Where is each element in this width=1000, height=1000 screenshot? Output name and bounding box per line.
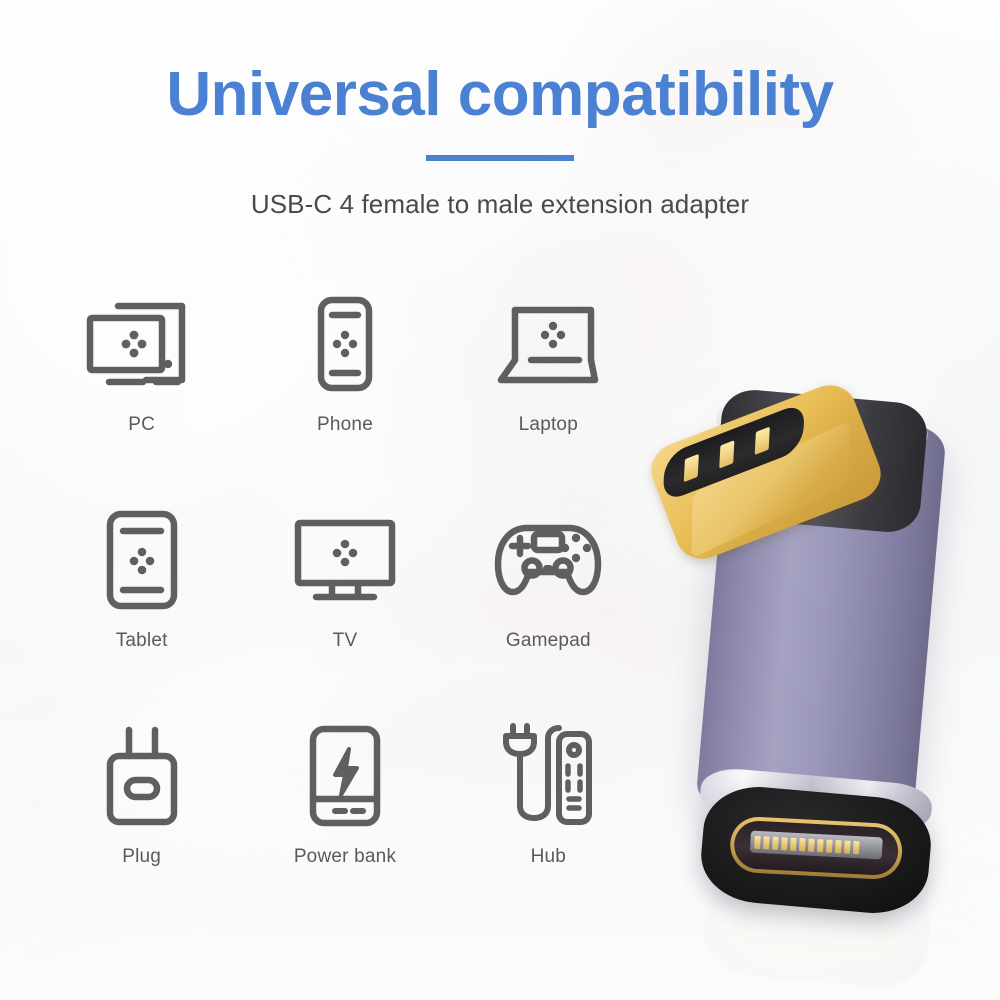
grid-item-gamepad: Gamepad bbox=[447, 504, 650, 720]
tablet-icon-box bbox=[98, 504, 186, 616]
female-contact-pin bbox=[763, 836, 770, 849]
gamepad-icon-box bbox=[486, 504, 610, 616]
male-contact-pin bbox=[719, 440, 734, 468]
female-contact-pin bbox=[808, 838, 815, 851]
female-port-cavity bbox=[733, 820, 899, 877]
female-contact-pin bbox=[781, 837, 788, 850]
grid-item-laptop: Laptop bbox=[447, 288, 650, 504]
plug-icon-box bbox=[99, 720, 185, 832]
pc-icon-box bbox=[78, 288, 206, 400]
male-contact-pin bbox=[684, 454, 699, 482]
product-photo bbox=[640, 380, 1000, 1000]
gamepad-controller-icon bbox=[486, 516, 610, 604]
grid-item-phone: Phone bbox=[243, 288, 446, 504]
smartphone-icon bbox=[307, 292, 383, 396]
female-contact-pin bbox=[772, 836, 779, 849]
title-divider-wrap bbox=[0, 155, 1000, 161]
power-bank-icon bbox=[301, 721, 389, 831]
power-strip-hub-icon bbox=[498, 720, 598, 832]
compatibility-grid: PC Phone bbox=[40, 288, 650, 936]
title-divider bbox=[426, 155, 574, 161]
page-title: Universal compatibility bbox=[0, 62, 1000, 127]
grid-item-label: Phone bbox=[317, 414, 373, 436]
tv-icon-box bbox=[286, 504, 404, 616]
female-contact-pin bbox=[826, 839, 833, 852]
grid-item-label: PC bbox=[128, 414, 155, 436]
product-infographic: Universal compatibility USB-C 4 female t… bbox=[0, 0, 1000, 1000]
wall-charger-plug-icon bbox=[99, 722, 185, 830]
female-contact-pin bbox=[799, 838, 806, 851]
male-contact-pin bbox=[755, 427, 770, 455]
grid-item-label: Tablet bbox=[116, 630, 168, 652]
female-contact-pin bbox=[754, 835, 761, 848]
usb-c-female-port bbox=[697, 782, 934, 917]
female-contact-pin bbox=[844, 840, 851, 853]
female-contact-pin bbox=[853, 840, 860, 853]
television-icon bbox=[286, 513, 404, 607]
desktop-monitor-icon bbox=[78, 294, 206, 394]
female-contact-pin bbox=[790, 837, 797, 850]
grid-item-tv: TV bbox=[243, 504, 446, 720]
grid-item-label: TV bbox=[333, 630, 358, 652]
header-block: Universal compatibility USB-C 4 female t… bbox=[0, 62, 1000, 220]
grid-item-plug: Plug bbox=[40, 720, 243, 936]
laptop-icon-box bbox=[489, 288, 607, 400]
grid-item-tablet: Tablet bbox=[40, 504, 243, 720]
grid-item-hub: Hub bbox=[447, 720, 650, 936]
laptop-icon bbox=[489, 298, 607, 390]
phone-icon-box bbox=[307, 288, 383, 400]
tablet-icon bbox=[98, 506, 186, 614]
hub-icon-box bbox=[498, 720, 598, 832]
female-port-ring bbox=[729, 816, 904, 881]
grid-item-label: Plug bbox=[122, 846, 161, 868]
usb-c-adapter bbox=[640, 380, 1000, 1000]
grid-item-label: Gamepad bbox=[506, 630, 591, 652]
power-bank-icon-box bbox=[301, 720, 389, 832]
female-contact-pin bbox=[817, 839, 824, 852]
grid-item-label: Laptop bbox=[519, 414, 578, 436]
grid-item-power-bank: Power bank bbox=[243, 720, 446, 936]
grid-item-label: Power bank bbox=[294, 846, 396, 868]
female-contact-pin bbox=[835, 840, 842, 853]
grid-item-pc: PC bbox=[40, 288, 243, 504]
grid-item-label: Hub bbox=[531, 846, 566, 868]
female-port-tongue bbox=[750, 831, 883, 860]
page-subtitle: USB-C 4 female to male extension adapter bbox=[0, 189, 1000, 220]
